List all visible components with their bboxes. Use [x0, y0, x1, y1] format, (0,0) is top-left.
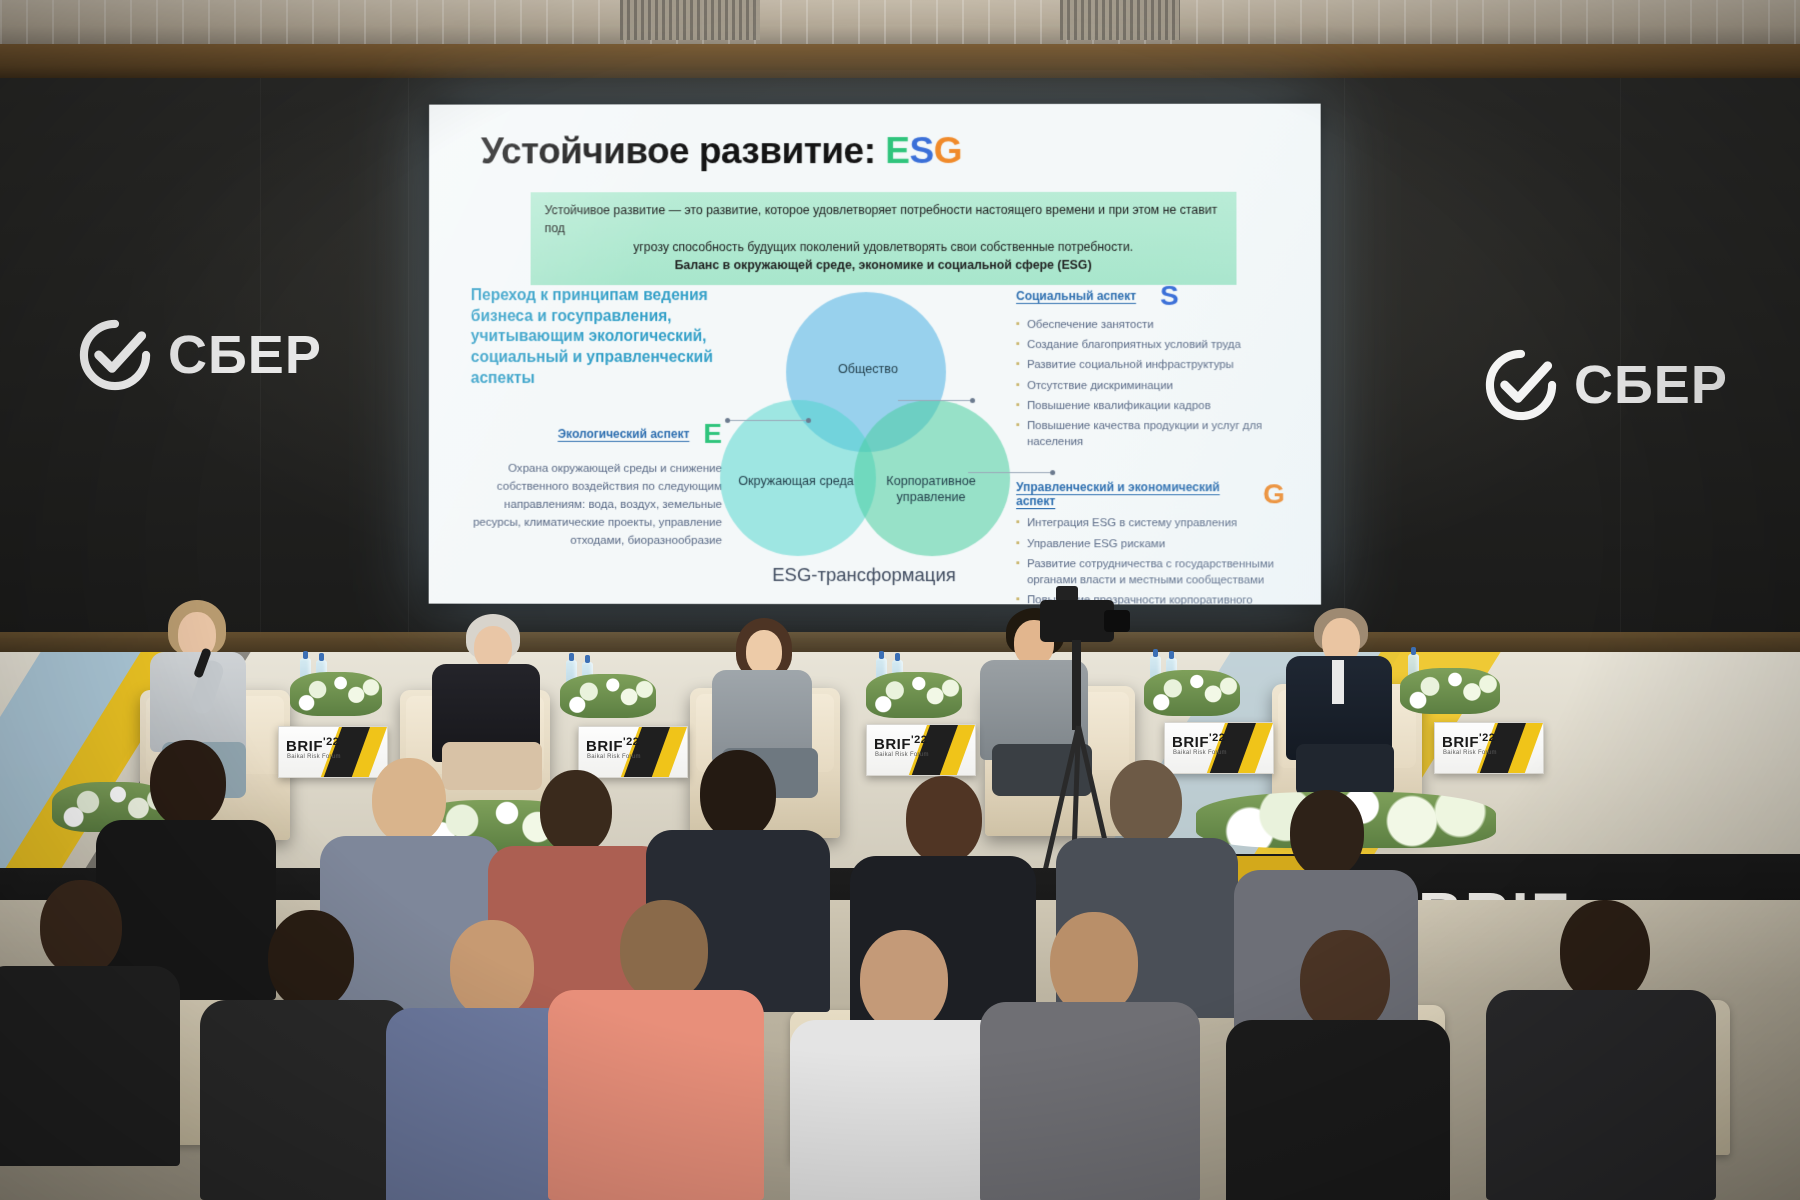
head: [450, 920, 534, 1018]
ceiling-vent: [1060, 0, 1180, 40]
list-item: ▪Повышение квалификации кадров: [1016, 398, 1285, 414]
video-camera-body: [1040, 600, 1114, 642]
banner-brif-text: BRIF: [586, 738, 623, 755]
head: [860, 930, 948, 1032]
list-item: ▪Повышение качества продукции и услуг дл…: [1016, 418, 1285, 451]
letter-g-badge: G: [1263, 481, 1285, 509]
banner-label: BRIF'22: [1442, 732, 1495, 751]
head: [1110, 760, 1182, 846]
banner-sublabel: Baikal Risk Forum: [875, 752, 929, 758]
banner-year-text: '22: [911, 734, 927, 746]
ceiling-slats: [0, 0, 1800, 46]
leg: [442, 742, 542, 790]
sber-checkmark-icon: [78, 318, 152, 392]
banner-label: BRIF'22: [286, 736, 339, 755]
social-aspect-heading: Социальный аспект: [1016, 289, 1136, 303]
banner-brif-text: BRIF: [286, 738, 323, 755]
list-item: ▪Обеспечение занятости: [1016, 317, 1285, 333]
banner-brif-text: BRIF: [874, 736, 911, 753]
social-aspect-bullets: ▪Обеспечение занятости ▪Создание благопр…: [1016, 317, 1285, 451]
list-item-label: Повышение качества продукции и услуг для…: [1027, 418, 1285, 451]
sber-wordmark: СБЕР: [1574, 354, 1728, 416]
ecological-aspect-header: Экологический аспект E: [471, 420, 722, 448]
banner-sublabel: Baikal Risk Forum: [287, 754, 341, 760]
definition-line-1: Устойчивое развитие — это развитие, кото…: [545, 201, 1223, 238]
sber-checkmark-icon: [1484, 348, 1558, 422]
body: [1486, 990, 1716, 1200]
floral-arrangement: [560, 674, 656, 718]
left-column: Переход к принципам ведения бизнеса и го…: [471, 286, 723, 549]
list-item-label: Создание благоприятных условий труда: [1027, 337, 1241, 353]
banner-sublabel: Baikal Risk Forum: [587, 754, 641, 760]
list-item: ▪Управление ESG рисками: [1016, 536, 1285, 552]
floral-arrangement: [866, 672, 962, 718]
head: [906, 776, 982, 864]
lead-paragraph: Переход к принципам ведения бизнеса и го…: [471, 286, 722, 390]
list-item: ▪Интеграция ESG в систему управления: [1016, 515, 1285, 531]
bullet-dot-icon: ▪: [1016, 317, 1020, 333]
bullet-dot-icon: ▪: [1016, 357, 1020, 373]
banner-sublabel: Baikal Risk Forum: [1173, 750, 1227, 756]
shirt: [1332, 660, 1344, 704]
head: [620, 900, 708, 1002]
wall-seam: [1344, 78, 1345, 638]
ecological-aspect-heading: Экологический аспект: [558, 427, 690, 441]
social-aspect-header: Социальный аспект S: [1016, 282, 1285, 310]
title-letter-s: S: [909, 130, 933, 171]
slide-title-text: Устойчивое развитие:: [481, 130, 885, 171]
title-letter-g: G: [934, 130, 962, 171]
head: [1560, 900, 1650, 1004]
venn-diagram: Общество Окружающая среда Корпоративное …: [714, 292, 1014, 582]
definition-line-2: угрозу способность будущих поколений удо…: [545, 238, 1223, 257]
banner-label: BRIF'22: [1172, 732, 1225, 751]
list-item: ▪Отсутствие дискриминации: [1016, 378, 1285, 394]
title-letter-e: E: [885, 130, 909, 171]
banner-brif-text: BRIF: [1442, 734, 1479, 751]
banner-year-text: '22: [323, 736, 339, 748]
list-item-label: Управление ESG рисками: [1027, 536, 1165, 552]
banner-year-text: '22: [623, 736, 639, 748]
banner-year-text: '22: [1479, 732, 1495, 744]
list-item-label: Отсутствие дискриминации: [1027, 378, 1173, 394]
bullet-dot-icon: ▪: [1016, 418, 1020, 450]
head: [40, 880, 122, 976]
slide-title: Устойчивое развитие: ESG: [481, 130, 1299, 173]
head: [746, 630, 782, 674]
wall-seam: [408, 78, 409, 638]
body: [0, 966, 180, 1166]
bullet-dot-icon: ▪: [1016, 556, 1020, 588]
leg: [1296, 744, 1394, 796]
head: [150, 740, 226, 828]
wall-upper-band: [0, 44, 1800, 80]
list-item-label: Повышение квалификации кадров: [1027, 398, 1211, 414]
presentation-slide: Устойчивое развитие: ESG Устойчивое разв…: [429, 104, 1321, 605]
head: [1290, 790, 1364, 878]
list-item: ▪Создание благоприятных условий труда: [1016, 337, 1285, 353]
definition-line-3: Баланс в окружающей среде, экономике и с…: [545, 256, 1223, 275]
body: [980, 1002, 1200, 1200]
conference-photo-scene: СБЕР СБЕР Устойчивое развитие: ESG Устой…: [0, 0, 1800, 1200]
list-item-label: Интеграция ESG в систему управления: [1027, 515, 1237, 531]
projection-screen: Устойчивое развитие: ESG Устойчивое разв…: [429, 104, 1321, 605]
chair-banner: BRIF'22 Baikal Risk Forum: [278, 726, 388, 778]
list-item-label: Развитие социальной инфраструктуры: [1027, 357, 1234, 373]
floral-arrangement: [290, 672, 382, 716]
head: [372, 758, 446, 844]
leader-line-ecological: [728, 420, 808, 421]
governance-aspect-header: Управленческий и экономический аспект G: [1016, 480, 1285, 508]
head: [1300, 930, 1390, 1034]
leader-line-social: [898, 400, 972, 401]
chair-banner: BRIF'22 Baikal Risk Forum: [1164, 722, 1274, 774]
wall-lower-band: [0, 632, 1800, 654]
banner-year-text: '22: [1209, 732, 1225, 744]
head: [1050, 912, 1138, 1016]
bullet-dot-icon: ▪: [1016, 398, 1020, 414]
list-item-label: Обеспечение занятости: [1027, 317, 1154, 333]
banner-label: BRIF'22: [874, 734, 927, 753]
floral-arrangement: [1400, 668, 1500, 714]
bullet-dot-icon: ▪: [1016, 536, 1020, 552]
camera-lens: [1104, 610, 1130, 632]
chair-banner: BRIF'22 Baikal Risk Forum: [1434, 722, 1544, 774]
ecological-aspect-body: Охрана окружающей среды и снижение собст…: [471, 460, 722, 550]
right-column: Социальный аспект S ▪Обеспечение занятос…: [1016, 282, 1285, 605]
banner-label: BRIF'22: [586, 736, 639, 755]
governance-aspect-heading: Управленческий и экономический аспект: [1016, 480, 1245, 508]
venn-label-society: Общество: [814, 362, 922, 378]
sber-wordmark: СБЕР: [168, 324, 322, 386]
letter-s-badge: S: [1160, 282, 1179, 310]
chair-banner: BRIF'22 Baikal Risk Forum: [578, 726, 688, 778]
body: [200, 1000, 410, 1200]
leader-line-governance: [968, 472, 1052, 473]
body: [790, 1020, 1006, 1200]
head: [700, 750, 776, 840]
venn-label-environment: Окружающая среда: [728, 474, 864, 490]
body: [1226, 1020, 1450, 1200]
venn-label-governance: Корпоративное управление: [860, 474, 1002, 506]
definition-box: Устойчивое развитие — это развитие, кото…: [531, 192, 1237, 285]
slide-body: Переход к принципам ведения бизнеса и го…: [429, 282, 1321, 605]
sber-logo-right: СБЕР: [1484, 348, 1728, 422]
chair-banner: BRIF'22 Baikal Risk Forum: [866, 724, 976, 776]
list-item: ▪Развитие социальной инфраструктуры: [1016, 357, 1285, 373]
head: [268, 910, 354, 1010]
sber-logo-left: СБЕР: [78, 318, 322, 392]
banner-brif-text: BRIF: [1172, 734, 1209, 751]
banner-sublabel: Baikal Risk Forum: [1443, 750, 1497, 756]
venn-caption: ESG-трансформация: [714, 564, 1014, 586]
bullet-dot-icon: ▪: [1016, 337, 1020, 353]
floral-arrangement: [1144, 670, 1240, 716]
bullet-dot-icon: ▪: [1016, 592, 1020, 604]
list-item-label: Развитие сотрудничества с государственны…: [1027, 556, 1285, 589]
ceiling-vent: [620, 0, 760, 40]
body: [548, 990, 764, 1200]
tripod-column: [1072, 640, 1081, 730]
list-item: ▪Развитие сотрудничества с государственн…: [1016, 556, 1285, 589]
bullet-dot-icon: ▪: [1016, 378, 1020, 394]
bullet-dot-icon: ▪: [1016, 515, 1020, 531]
head: [540, 770, 612, 854]
